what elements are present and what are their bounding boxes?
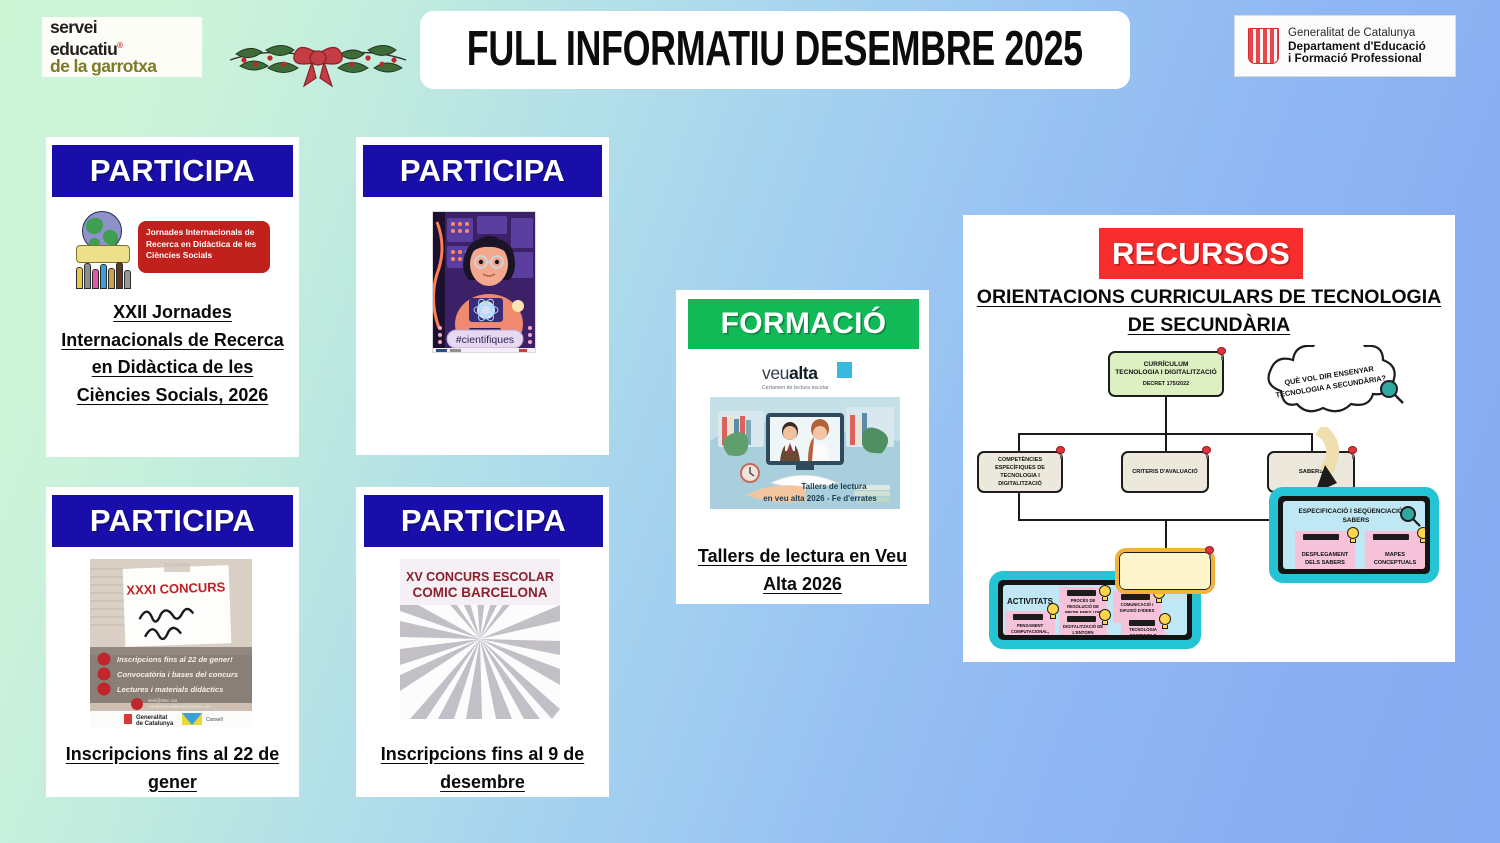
svg-text:XV CONCURS ESCOLAR: XV CONCURS ESCOLAR <box>406 570 554 584</box>
people-icon <box>76 259 132 289</box>
svg-text:Convocatòria i bases del concu: Convocatòria i bases del concurs <box>117 670 238 679</box>
panel-recursos[interactable]: RECURSOS ORIENTACIONS CURRICULARS DE TEC… <box>963 215 1455 662</box>
diagram-node-curriculum: CURRÍCULUM TECNOLOGIA I DIGITALITZACIÓ D… <box>1108 351 1224 397</box>
bulb-icon <box>1159 613 1172 629</box>
card-gust-lectura[interactable]: PARTICIPA XXXI CONCURS <box>46 487 299 797</box>
badge-recursos: RECURSOS <box>1099 228 1303 279</box>
node-line-3: DECRET 175/2022 <box>1143 381 1189 387</box>
card-caption[interactable]: Inscripcions fins al 9 de desembre <box>363 740 603 795</box>
bulb-icon <box>1417 527 1425 543</box>
holly-bow-icon <box>222 24 414 90</box>
pin-icon <box>1056 446 1065 457</box>
jornades-plate: Jornades Internacionals de Recerca en Di… <box>138 221 270 273</box>
bulb-icon <box>1099 609 1112 625</box>
badge-formacio: FORMACIÓ <box>688 299 919 349</box>
gencat-line-1: Generalitat de Catalunya <box>1288 27 1426 40</box>
card-caption[interactable]: XXII Jornades Internacionals de Recerca … <box>55 298 291 408</box>
connector-vertical-situacions <box>1165 519 1167 551</box>
node-label: COMPETÈNCIES ESPECÍFIQUES DE TECNOLOGIA … <box>982 456 1058 488</box>
svg-text:en veu alta 2026 - Fe d'errate: en veu alta 2026 - Fe d'errates <box>763 494 877 503</box>
registered-icon: ® <box>117 41 122 50</box>
servei-educatiu-logo: servei educatiu® de la garrotxa <box>42 17 202 77</box>
svg-text:Tallers de lectura: Tallers de lectura <box>801 482 867 491</box>
node-line-2: TECNOLOGIA I DIGITALITZACIÓ <box>1115 369 1216 376</box>
connector-up-1 <box>1018 493 1020 519</box>
veualta-poster-art: Tallers de lectura en veu alta 2026 - Fe… <box>710 397 900 509</box>
diagram-node-situacions <box>1118 551 1212 591</box>
svg-text:serii@xtec.cat: serii@xtec.cat <box>148 698 178 703</box>
sticky-note: MAPES CONCEPTUALS <box>1365 531 1425 569</box>
node-label: CRITERIS D'AVALUACIÓ <box>1132 469 1197 475</box>
badge-participa: PARTICIPA <box>52 495 293 547</box>
page-title-pill: FULL INFORMATIU DESEMBRE 2025 <box>420 11 1130 89</box>
diagram-node-competencies: COMPETÈNCIES ESPECÍFIQUES DE TECNOLOGIA … <box>977 451 1063 493</box>
badge-participa: PARTICIPA <box>363 145 602 197</box>
recursos-subtitle[interactable]: ORIENTACIONS CURRICULARS DE TECNOLOGIA D… <box>971 283 1447 339</box>
svg-text:COMIC BARCELONA: COMIC BARCELONA <box>413 585 548 600</box>
comic-poster-art: XV CONCURS ESCOLAR COMIC BARCELONA <box>400 559 560 719</box>
veualta-logo: veualta Certamen de lectura escolar <box>762 363 844 391</box>
page-title: FULL INFORMATIU DESEMBRE 2025 <box>467 23 1083 78</box>
connector-drop-2 <box>1165 433 1167 451</box>
logo-line-3: de la garrotxa <box>50 58 196 76</box>
comic-poster-thumbnail[interactable]: XV CONCURS ESCOLAR COMIC BARCELONA <box>400 559 560 719</box>
card-caption[interactable]: Inscripcions fins al 22 de gener <box>53 740 293 795</box>
tablet-screen: ESPECIFICACIÓ I SEQÜENCIACIÓ DE SABERS D… <box>1283 501 1425 569</box>
svg-text:Lectures i materials didàctics: Lectures i materials didàctics <box>117 685 223 694</box>
magnifier-icon <box>1397 503 1423 529</box>
logo-line-1: servei <box>50 19 196 37</box>
cientifiques-poster-art: #cientifiques <box>433 212 536 353</box>
badge-participa: PARTICIPA <box>364 495 603 547</box>
tablet-sabers: ESPECIFICACIÓ I SEQÜENCIACIÓ DE SABERS D… <box>1269 487 1439 583</box>
pin-icon <box>1205 546 1214 557</box>
sticky-note: DESPLEGAMENT DELS SABERS <box>1295 531 1355 569</box>
concurs-poster-thumbnail[interactable]: XXXI CONCURS Inscripcions fins al 22 de … <box>90 559 252 727</box>
bulb-icon <box>1347 527 1360 543</box>
pin-icon <box>1217 347 1226 358</box>
card-jornades[interactable]: PARTICIPA Jornades Internacionals de Rec… <box>46 137 299 457</box>
logo-line-2: educatiu® <box>50 37 196 58</box>
diagram-node-criteris: CRITERIS D'AVALUACIÓ <box>1121 451 1209 493</box>
veualta-tagline: Certamen de lectura escolar <box>762 385 844 391</box>
jornades-plate-text: Jornades Internacionals de Recerca en Di… <box>146 227 262 262</box>
cientifiques-poster-thumbnail[interactable]: #cientifiques <box>432 211 536 353</box>
generalitat-logo: Generalitat de Catalunya Departament d'E… <box>1234 15 1456 77</box>
card-caption[interactable]: Tallers de lectura en Veu Alta 2026 <box>680 542 925 597</box>
card-comic-barcelona[interactable]: PARTICIPA XV CONCURS ESCOLAR COMIC BARCE… <box>356 487 609 797</box>
connector-vertical-root <box>1165 397 1167 433</box>
tecnologia-diagram[interactable]: CURRÍCULUM TECNOLOGIA I DIGITALITZACIÓ D… <box>973 345 1445 655</box>
pin-icon <box>1202 446 1211 457</box>
badge-participa: PARTICIPA <box>52 145 293 197</box>
page-header: servei educatiu® de la garrotxa <box>0 0 1500 100</box>
gencat-line-3: i Formació Professional <box>1288 52 1426 65</box>
svg-text:Consell: Consell <box>206 717 223 723</box>
concurs-poster-art: XXXI CONCURS Inscripcions fins al 22 de … <box>90 559 252 727</box>
thought-cloud: QUÈ VOL DIR ENSENYAR TECNOLOGIA A SECUND… <box>1251 345 1411 433</box>
card-veu-alta[interactable]: FORMACIÓ veualta Certamen de lectura esc… <box>676 290 929 604</box>
svg-text:de Catalunya: de Catalunya <box>136 721 174 727</box>
pin-icon <box>1348 446 1357 457</box>
magnifier-icon <box>1377 377 1407 407</box>
veualta-square-icon <box>837 362 852 378</box>
bulb-icon <box>1099 585 1112 601</box>
svg-text:#cientifiques: #cientifiques <box>456 334 514 346</box>
jornades-logo-thumbnail[interactable]: Jornades Internacionals de Recerca en Di… <box>72 209 272 289</box>
veualta-poster-thumbnail[interactable]: Tallers de lectura en veu alta 2026 - Fe… <box>710 397 900 509</box>
catalonia-shield-icon <box>1248 28 1279 64</box>
veualta-wordmark: veualta <box>762 363 844 384</box>
connector-drop-1 <box>1018 433 1020 451</box>
node-line-1: CURRÍCULUM <box>1144 361 1189 368</box>
card-cientifiques[interactable]: PARTICIPA <box>356 137 609 455</box>
svg-text:competencialiteraria@xtec.cat: competencialiteraria@xtec.cat <box>148 704 210 709</box>
svg-text:Inscripcions fins al 22 de gen: Inscripcions fins al 22 de gener! <box>117 655 233 664</box>
